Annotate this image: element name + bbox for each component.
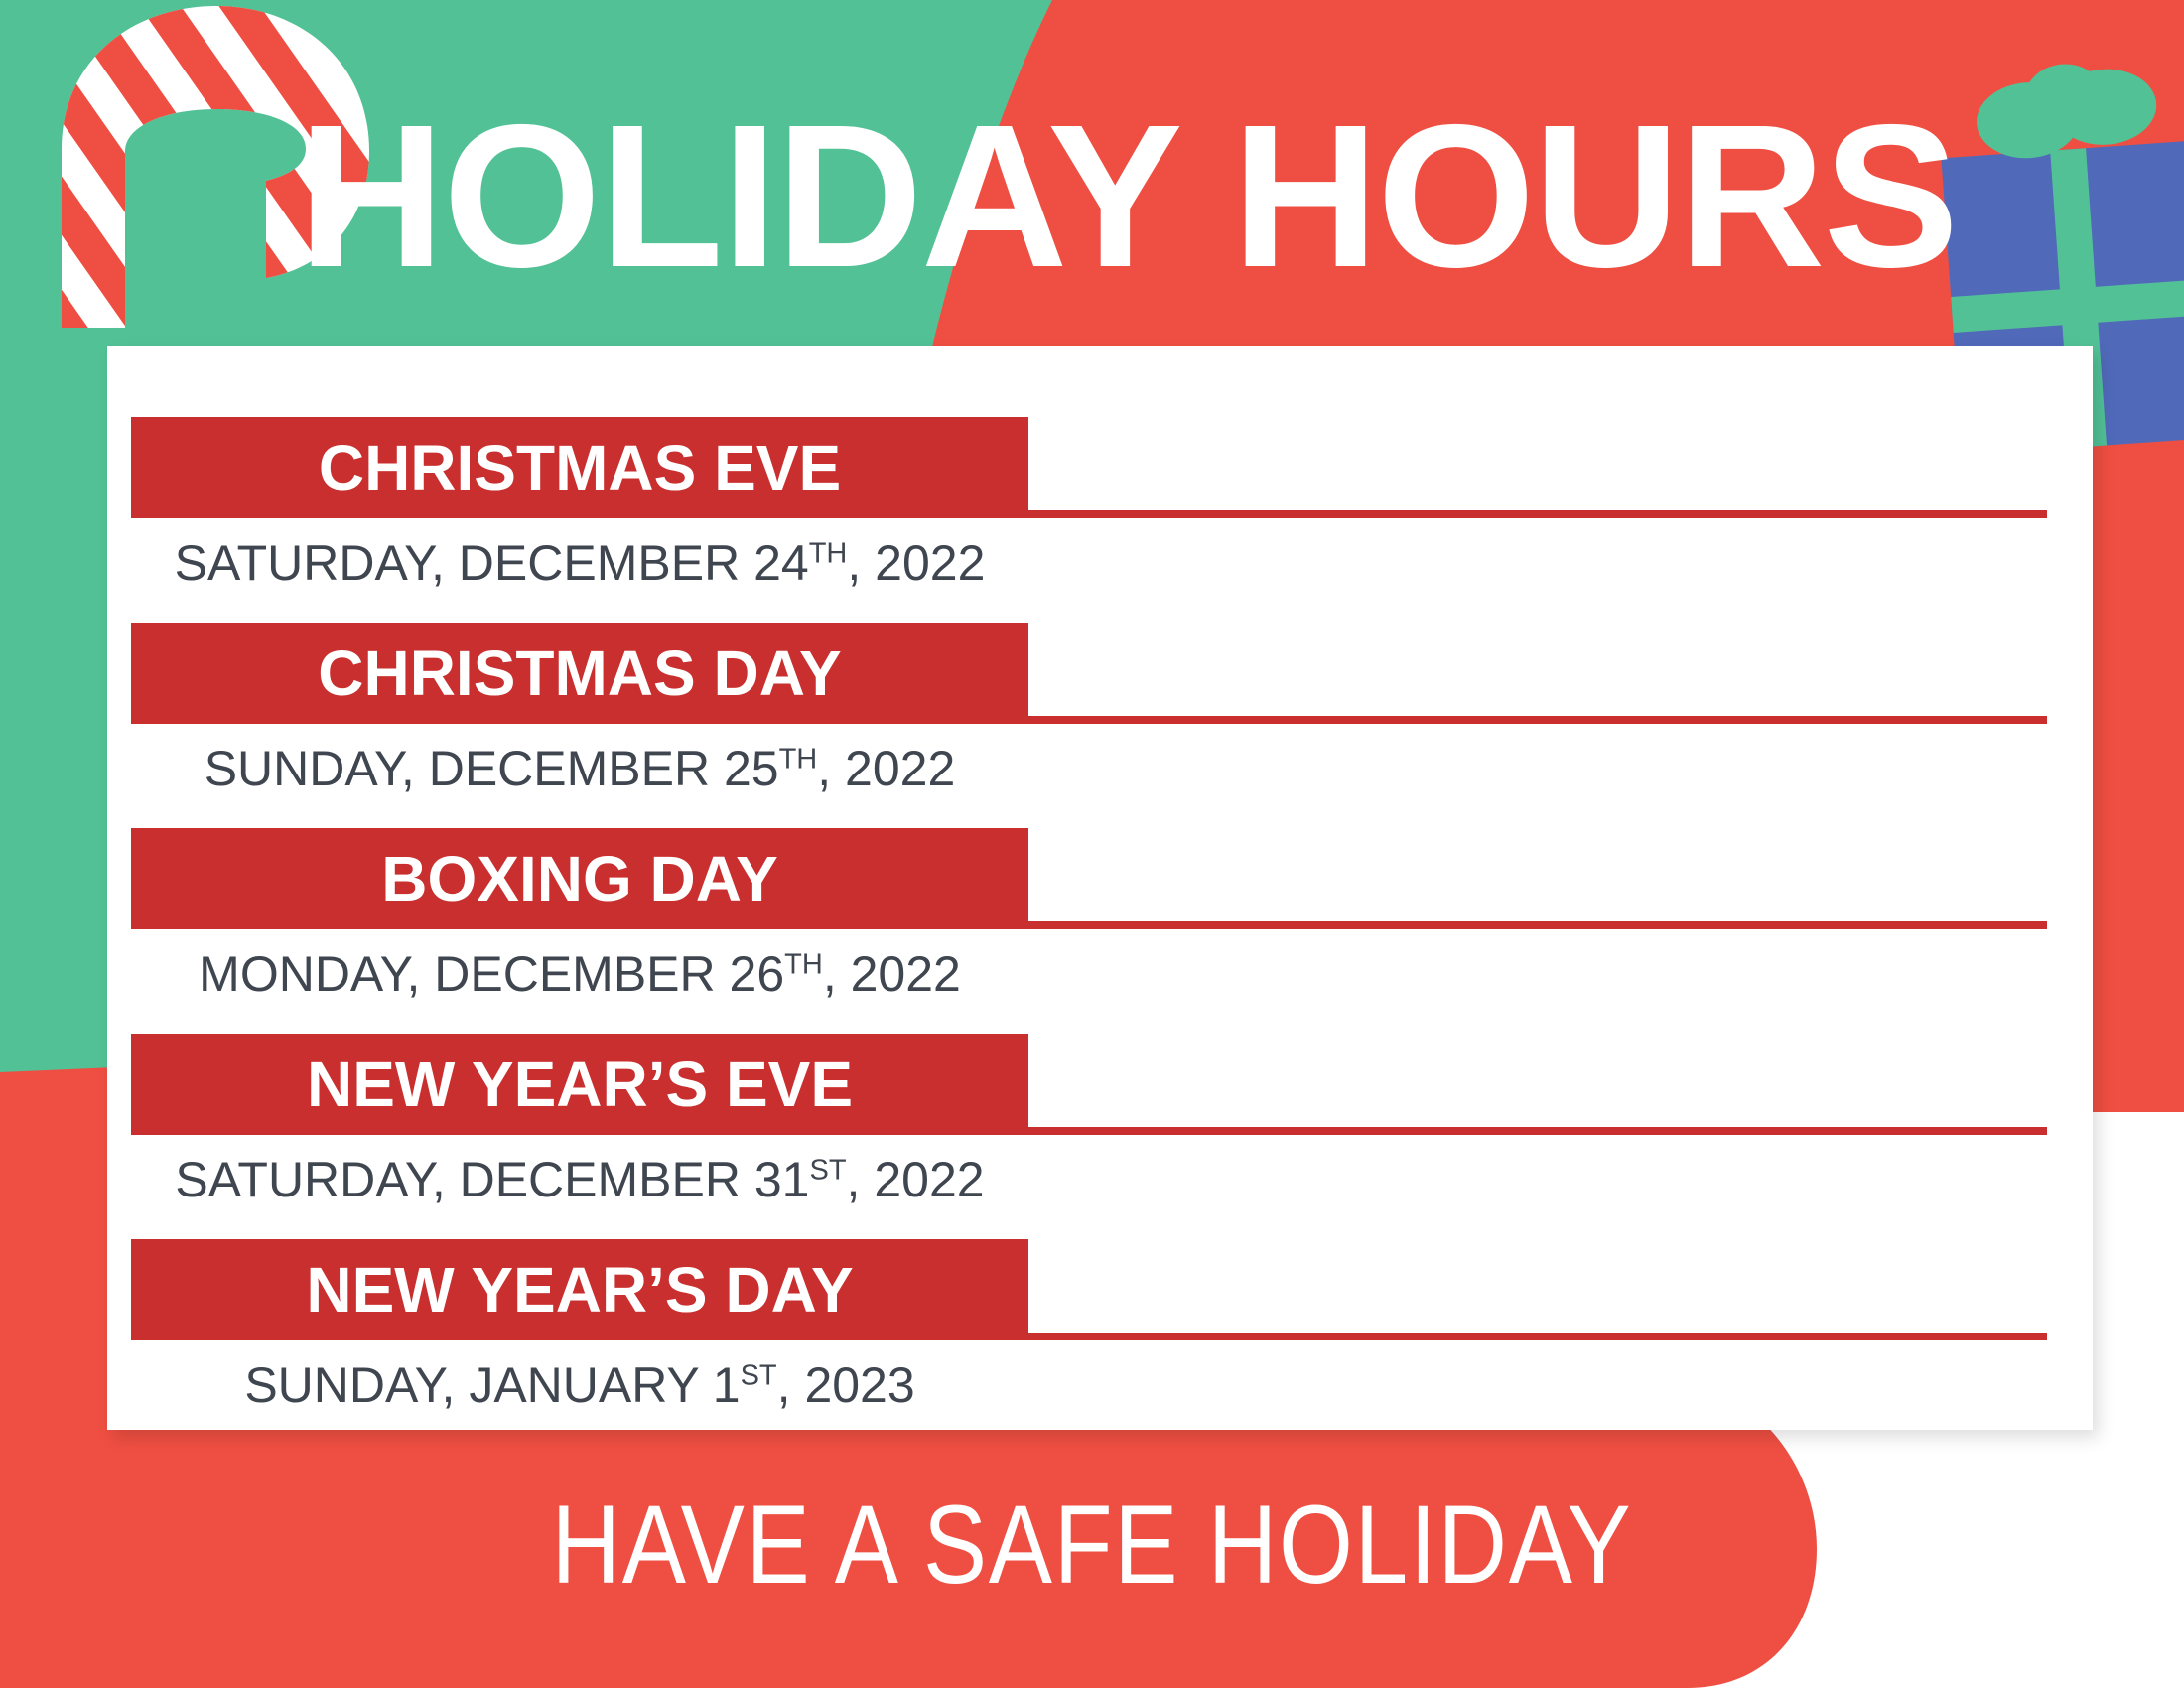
holiday-date: SATURDAY, DECEMBER 31ST, 2022 — [131, 1137, 1028, 1222]
holiday-date-prefix: SATURDAY, DECEMBER 31 — [175, 1152, 809, 1207]
holiday-date-suffix: , 2022 — [817, 741, 955, 796]
holiday-name: BOXING DAY — [381, 847, 778, 911]
hours-rule — [1028, 716, 2047, 724]
holiday-name: NEW YEAR’S DAY — [306, 1258, 853, 1322]
hours-rule — [1028, 921, 2047, 929]
holiday-name-band: BOXING DAY — [131, 828, 1028, 929]
table-row: CHRISTMAS DAY SUNDAY, DECEMBER 25TH, 202… — [131, 623, 2069, 828]
holiday-name-band: CHRISTMAS EVE — [131, 417, 1028, 518]
holiday-date-ordinal: TH — [809, 537, 848, 569]
footer-message: HAVE A SAFE HOLIDAY — [153, 1485, 2031, 1605]
holiday-date-prefix: SATURDAY, DECEMBER 24 — [175, 535, 809, 591]
holiday-date-prefix: SUNDAY, JANUARY 1 — [244, 1357, 740, 1413]
holiday-date-suffix: , 2022 — [847, 535, 985, 591]
holiday-date: SATURDAY, DECEMBER 24TH, 2022 — [131, 520, 1028, 606]
holiday-date-suffix: , 2023 — [777, 1357, 915, 1413]
holiday-date-ordinal: TH — [779, 743, 818, 774]
holiday-date-ordinal: ST — [809, 1154, 846, 1186]
table-row: BOXING DAY MONDAY, DECEMBER 26TH, 2022 — [131, 828, 2069, 1034]
holiday-date-prefix: SUNDAY, DECEMBER 25 — [205, 741, 779, 796]
schedule-rows: CHRISTMAS EVE SATURDAY, DECEMBER 24TH, 2… — [131, 417, 2069, 1438]
page-title: HOLIDAY HOURS — [298, 87, 1906, 306]
table-row: NEW YEAR’S DAY SUNDAY, JANUARY 1ST, 2023 — [131, 1239, 2069, 1438]
holiday-date-prefix: MONDAY, DECEMBER 26 — [199, 946, 784, 1002]
holiday-date-ordinal: ST — [741, 1359, 777, 1391]
holiday-name: CHRISTMAS DAY — [318, 641, 841, 705]
holiday-name-band: CHRISTMAS DAY — [131, 623, 1028, 724]
schedule-card: CHRISTMAS EVE SATURDAY, DECEMBER 24TH, 2… — [107, 346, 2093, 1430]
holiday-date: SUNDAY, DECEMBER 25TH, 2022 — [131, 726, 1028, 811]
holiday-date-ordinal: TH — [784, 948, 823, 980]
hours-rule — [1028, 1127, 2047, 1135]
holiday-hours-poster: HOLIDAY HOURS CHRISTMAS EVE SATURDAY, DE… — [0, 0, 2184, 1688]
hours-rule — [1028, 510, 2047, 518]
holiday-name-band: NEW YEAR’S DAY — [131, 1239, 1028, 1340]
holiday-date-suffix: , 2022 — [823, 946, 961, 1002]
holiday-date: SUNDAY, JANUARY 1ST, 2023 — [131, 1342, 1028, 1428]
holiday-name: NEW YEAR’S EVE — [307, 1053, 853, 1116]
holiday-date: MONDAY, DECEMBER 26TH, 2022 — [131, 931, 1028, 1017]
holiday-name: CHRISTMAS EVE — [319, 436, 841, 499]
holiday-name-band: NEW YEAR’S EVE — [131, 1034, 1028, 1135]
table-row: NEW YEAR’S EVE SATURDAY, DECEMBER 31ST, … — [131, 1034, 2069, 1239]
table-row: CHRISTMAS EVE SATURDAY, DECEMBER 24TH, 2… — [131, 417, 2069, 623]
hours-rule — [1028, 1333, 2047, 1340]
holiday-date-suffix: , 2022 — [847, 1152, 985, 1207]
